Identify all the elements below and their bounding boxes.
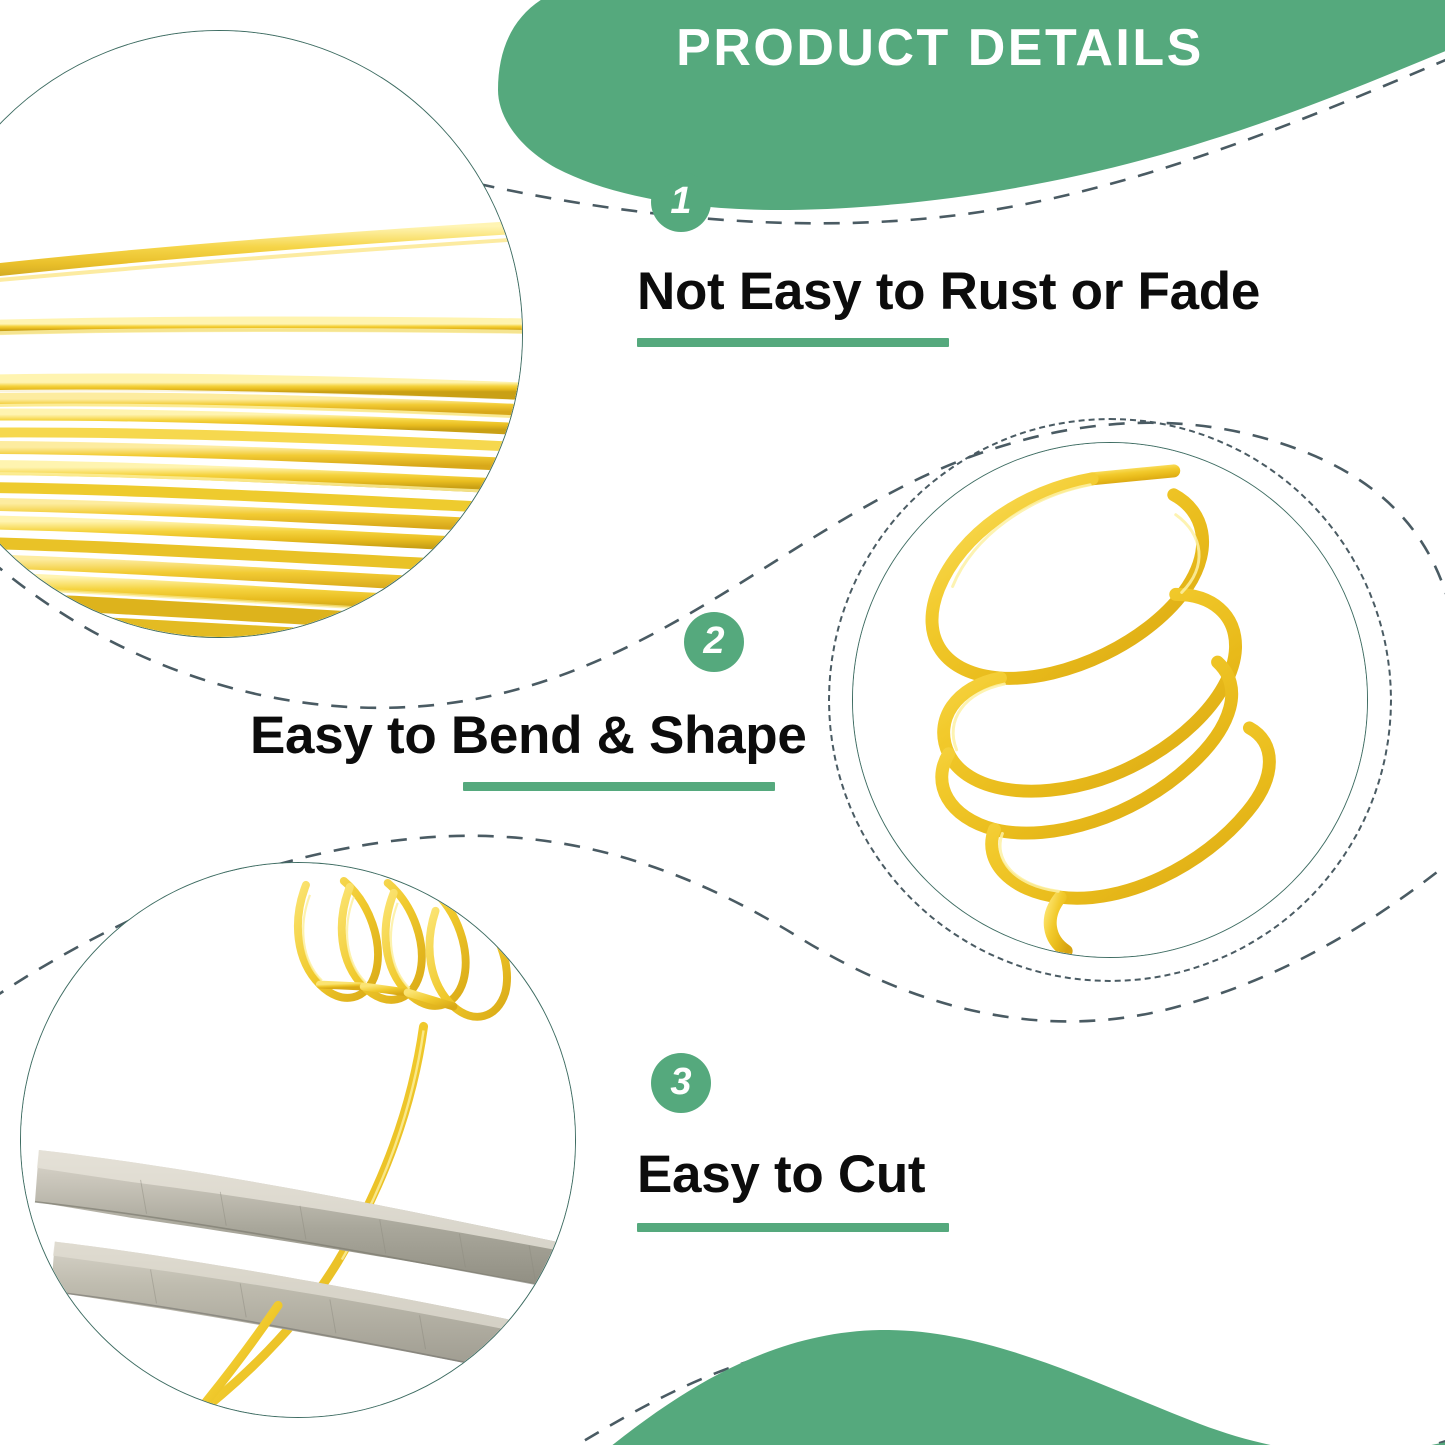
page-title: PRODUCT DETAILS <box>620 12 1260 84</box>
photo-wire-being-cut <box>20 862 576 1418</box>
photo-wire-spiral-spring <box>852 442 1368 958</box>
feature-block-3: 3 Easy to Cut <box>637 1053 949 1232</box>
feature-title-2: Easy to Bend & Shape <box>250 708 775 764</box>
photo-wire-coil-bundle <box>0 30 523 638</box>
feature-title-1: Not Easy to Rust or Fade <box>637 264 1260 320</box>
feature-badge-1: 1 <box>651 172 711 232</box>
feature-underline-3 <box>637 1223 949 1232</box>
wire-spiral-illustration <box>853 443 1367 957</box>
feature-badge-3: 3 <box>651 1053 711 1113</box>
infographic-canvas: PRODUCT DETAILS <box>0 0 1445 1445</box>
wire-cutting-illustration <box>21 863 575 1417</box>
feature-badge-2: 2 <box>684 612 744 672</box>
wire-coil-bundle-illustration <box>0 31 522 637</box>
feature-underline-1 <box>637 338 949 347</box>
feature-title-3: Easy to Cut <box>637 1147 949 1203</box>
feature-block-2: 2 Easy to Bend & Shape <box>250 612 775 791</box>
feature-underline-2 <box>463 782 775 791</box>
feature-block-1: 1 Not Easy to Rust or Fade <box>637 172 1260 347</box>
footer-wave-fill <box>600 1330 1445 1445</box>
